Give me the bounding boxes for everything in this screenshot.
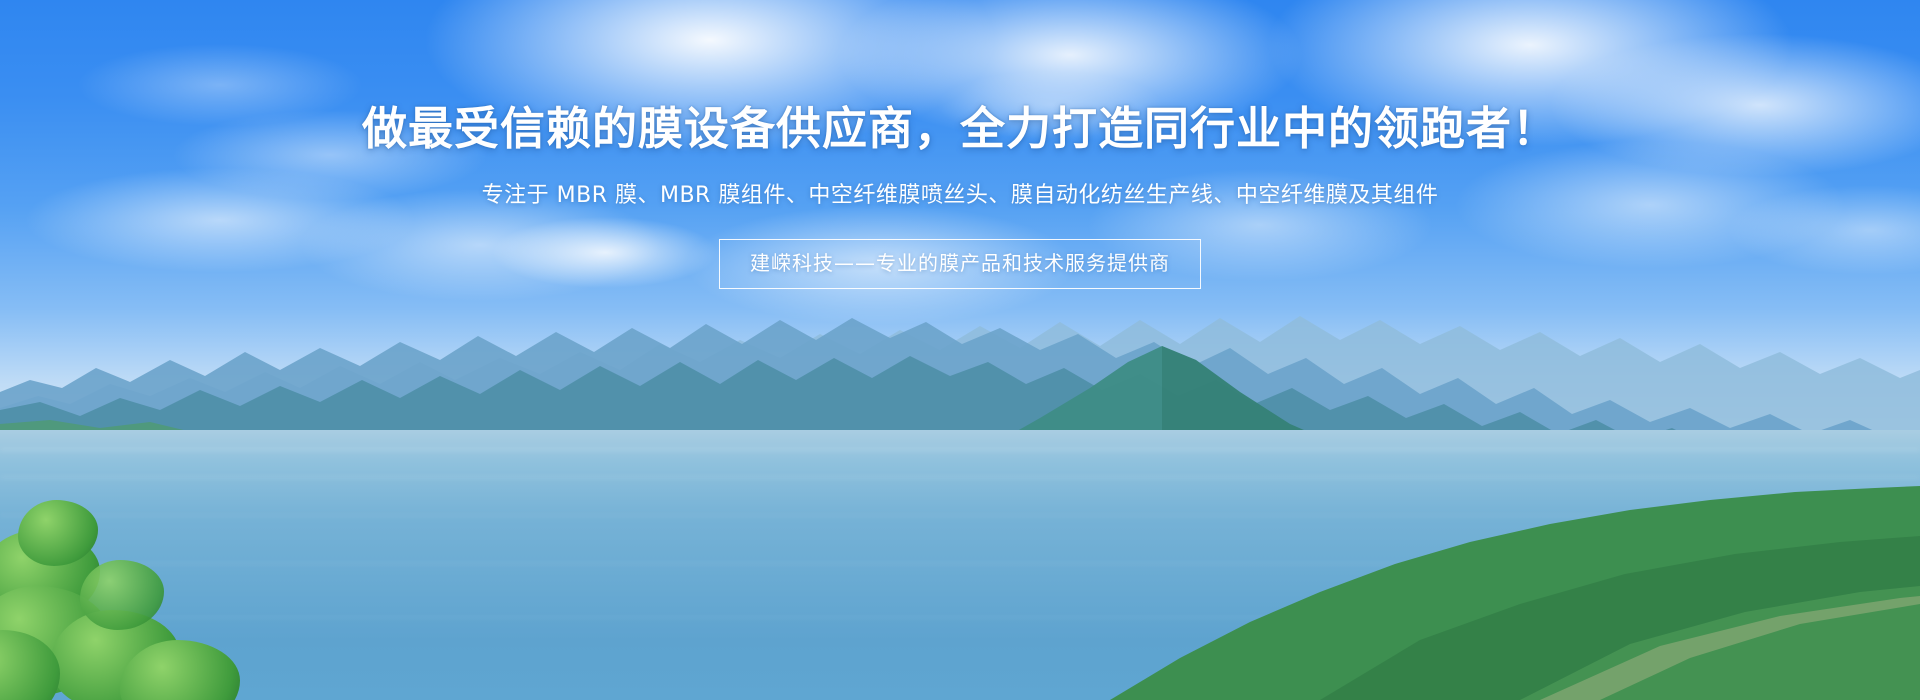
lake-water [0,430,1920,700]
banner-tagline-wrap: 建嵘科技——专业的膜产品和技术服务提供商 [0,239,1920,289]
banner-content: 做最受信赖的膜设备供应商，全力打造同行业中的领跑者！ 专注于 MBR 膜、MBR… [0,0,1920,289]
banner-headline: 做最受信赖的膜设备供应商，全力打造同行业中的领跑者！ [0,0,1920,155]
hero-banner: 做最受信赖的膜设备供应商，全力打造同行业中的领跑者！ 专注于 MBR 膜、MBR… [0,0,1920,700]
banner-tagline: 建嵘科技——专业的膜产品和技术服务提供商 [719,239,1201,289]
banner-subheadline: 专注于 MBR 膜、MBR 膜组件、中空纤维膜喷丝头、膜自动化纺丝生产线、中空纤… [0,155,1920,212]
